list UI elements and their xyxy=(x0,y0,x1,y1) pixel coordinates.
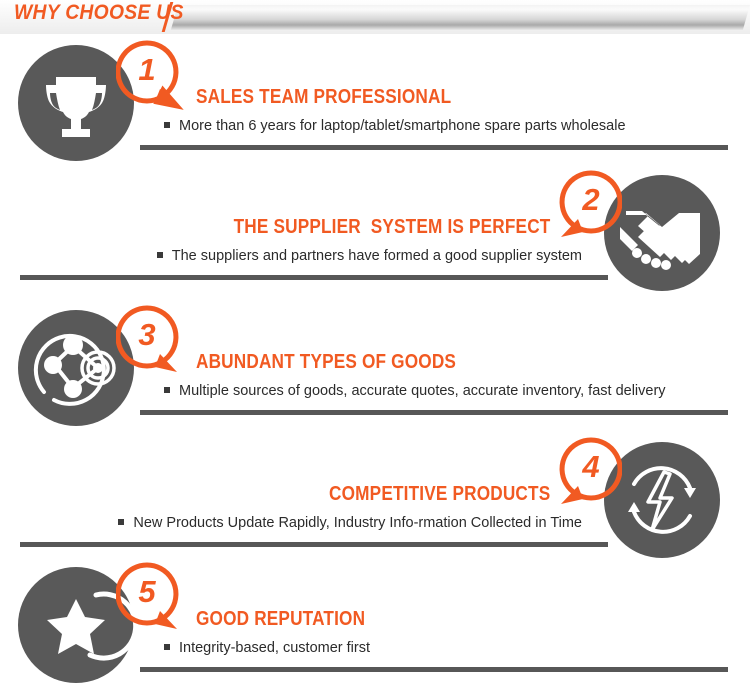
feature-divider-3 xyxy=(140,410,728,415)
feature-divider-4 xyxy=(20,542,608,547)
feature-heading-1: SALES TEAM PROFESSIONAL xyxy=(196,86,451,109)
feature-divider-2 xyxy=(20,275,608,280)
step-number-4: 4 xyxy=(560,437,622,497)
feature-row-2: 2 THE SUPPLIER SYSTEM IS PERFECT The sup… xyxy=(0,170,750,295)
bullet-square-icon xyxy=(157,252,163,258)
feature-row-1: 1 SALES TEAM PROFESSIONAL More than 6 ye… xyxy=(0,40,750,165)
feature-bullet-5: Integrity-based, customer first xyxy=(164,640,370,656)
feature-heading-2: THE SUPPLIER SYSTEM IS PERFECT xyxy=(233,216,550,239)
feature-bullet-2: The suppliers and partners have formed a… xyxy=(157,248,582,264)
feature-bullet-4: New Products Update Rapidly, Industry In… xyxy=(118,515,582,531)
step-number-2: 2 xyxy=(560,170,622,230)
feature-divider-1 xyxy=(140,145,728,150)
feature-row-3: 3 ABUNDANT TYPES OF GOODS Multiple sourc… xyxy=(0,305,750,430)
bullet-square-icon xyxy=(164,644,170,650)
feature-bullet-3: Multiple sources of goods, accurate quot… xyxy=(164,383,666,399)
header-gradient-bar xyxy=(171,5,750,30)
page-title: WHY CHOOSE US xyxy=(14,1,184,25)
page-header-banner: WHY CHOOSE US xyxy=(0,0,750,34)
step-number-badge-3: 3 xyxy=(116,305,186,375)
step-number-badge-4: 4 xyxy=(552,437,622,507)
step-number-3: 3 xyxy=(116,305,178,365)
feature-heading-4: COMPETITIVE PRODUCTS xyxy=(329,483,550,506)
step-number-5: 5 xyxy=(116,562,178,622)
step-number-badge-2: 2 xyxy=(552,170,622,240)
bullet-square-icon xyxy=(164,387,170,393)
step-number-badge-1: 1 xyxy=(116,40,186,110)
feature-row-4: 4 COMPETITIVE PRODUCTS New Products Upda… xyxy=(0,437,750,562)
feature-divider-5 xyxy=(140,667,728,672)
feature-bullet-text-5: Integrity-based, customer first xyxy=(179,640,370,656)
feature-bullet-text-3: Multiple sources of goods, accurate quot… xyxy=(179,383,666,399)
bullet-square-icon xyxy=(118,519,124,525)
feature-bullet-text-1: More than 6 years for laptop/tablet/smar… xyxy=(179,118,626,134)
feature-bullet-text-4: New Products Update Rapidly, Industry In… xyxy=(133,515,582,531)
bullet-square-icon xyxy=(164,122,170,128)
step-number-1: 1 xyxy=(116,40,178,100)
feature-bullet-text-2: The suppliers and partners have formed a… xyxy=(172,248,582,264)
step-number-badge-5: 5 xyxy=(116,562,186,632)
feature-heading-3: ABUNDANT TYPES OF GOODS xyxy=(196,351,456,374)
feature-heading-5: GOOD REPUTATION xyxy=(196,608,365,631)
feature-bullet-1: More than 6 years for laptop/tablet/smar… xyxy=(164,118,626,134)
feature-row-5: 5 GOOD REPUTATION Integrity-based, custo… xyxy=(0,562,750,687)
